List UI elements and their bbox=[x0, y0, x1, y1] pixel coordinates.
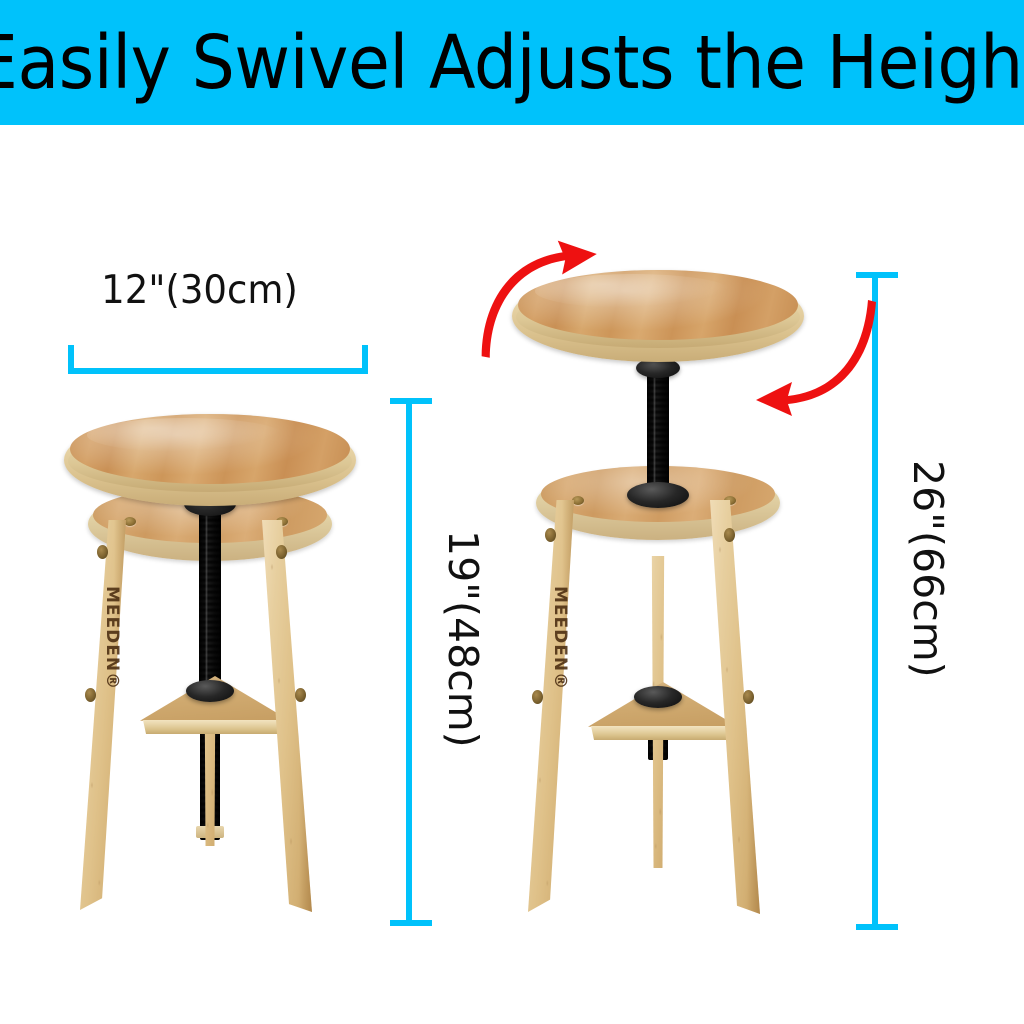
stool-seat-left bbox=[64, 414, 356, 506]
height-high-dimension-label: 26"(66cm) bbox=[904, 460, 952, 678]
leg-screw-hole-left-lower bbox=[85, 688, 96, 702]
shelf-nut-left bbox=[186, 680, 234, 702]
leg-screw-hole-r-left-lower bbox=[532, 690, 543, 704]
stool-lowered: MEEDEN® bbox=[0, 0, 420, 1024]
shelf-nut-right bbox=[634, 686, 682, 708]
stool-leg-front-left-right-unit bbox=[528, 500, 574, 912]
rod-base-collar-right bbox=[627, 482, 689, 508]
threaded-rod-left bbox=[199, 508, 221, 693]
infographic-canvas: Easily Swivel Adjusts the Height 12"(30c… bbox=[0, 0, 1024, 1024]
stool-leg-front-left bbox=[80, 520, 126, 910]
leg-screw-hole-r-left-upper bbox=[545, 528, 556, 542]
leg-screw-hole-right-lower bbox=[295, 688, 306, 702]
stool-raised: MEEDEN® bbox=[470, 0, 890, 1024]
leg-screw-hole-r-right-lower bbox=[743, 690, 754, 704]
leg-screw-hole-left-upper bbox=[97, 545, 108, 559]
stool-shelf-edge-right bbox=[588, 726, 738, 740]
brand-logo-left-stool: MEEDEN® bbox=[102, 586, 122, 690]
stool-shelf-edge-left bbox=[140, 720, 290, 734]
leg-screw-hole-r-right-upper bbox=[724, 528, 735, 542]
leg-screw-hole-right-upper bbox=[276, 545, 287, 559]
brand-logo-right-stool: MEEDEN® bbox=[550, 586, 570, 690]
stool-leg-front-right-right-unit bbox=[710, 500, 760, 914]
swivel-arrow-right-icon bbox=[752, 296, 882, 416]
swivel-arrow-left-icon bbox=[470, 238, 600, 358]
